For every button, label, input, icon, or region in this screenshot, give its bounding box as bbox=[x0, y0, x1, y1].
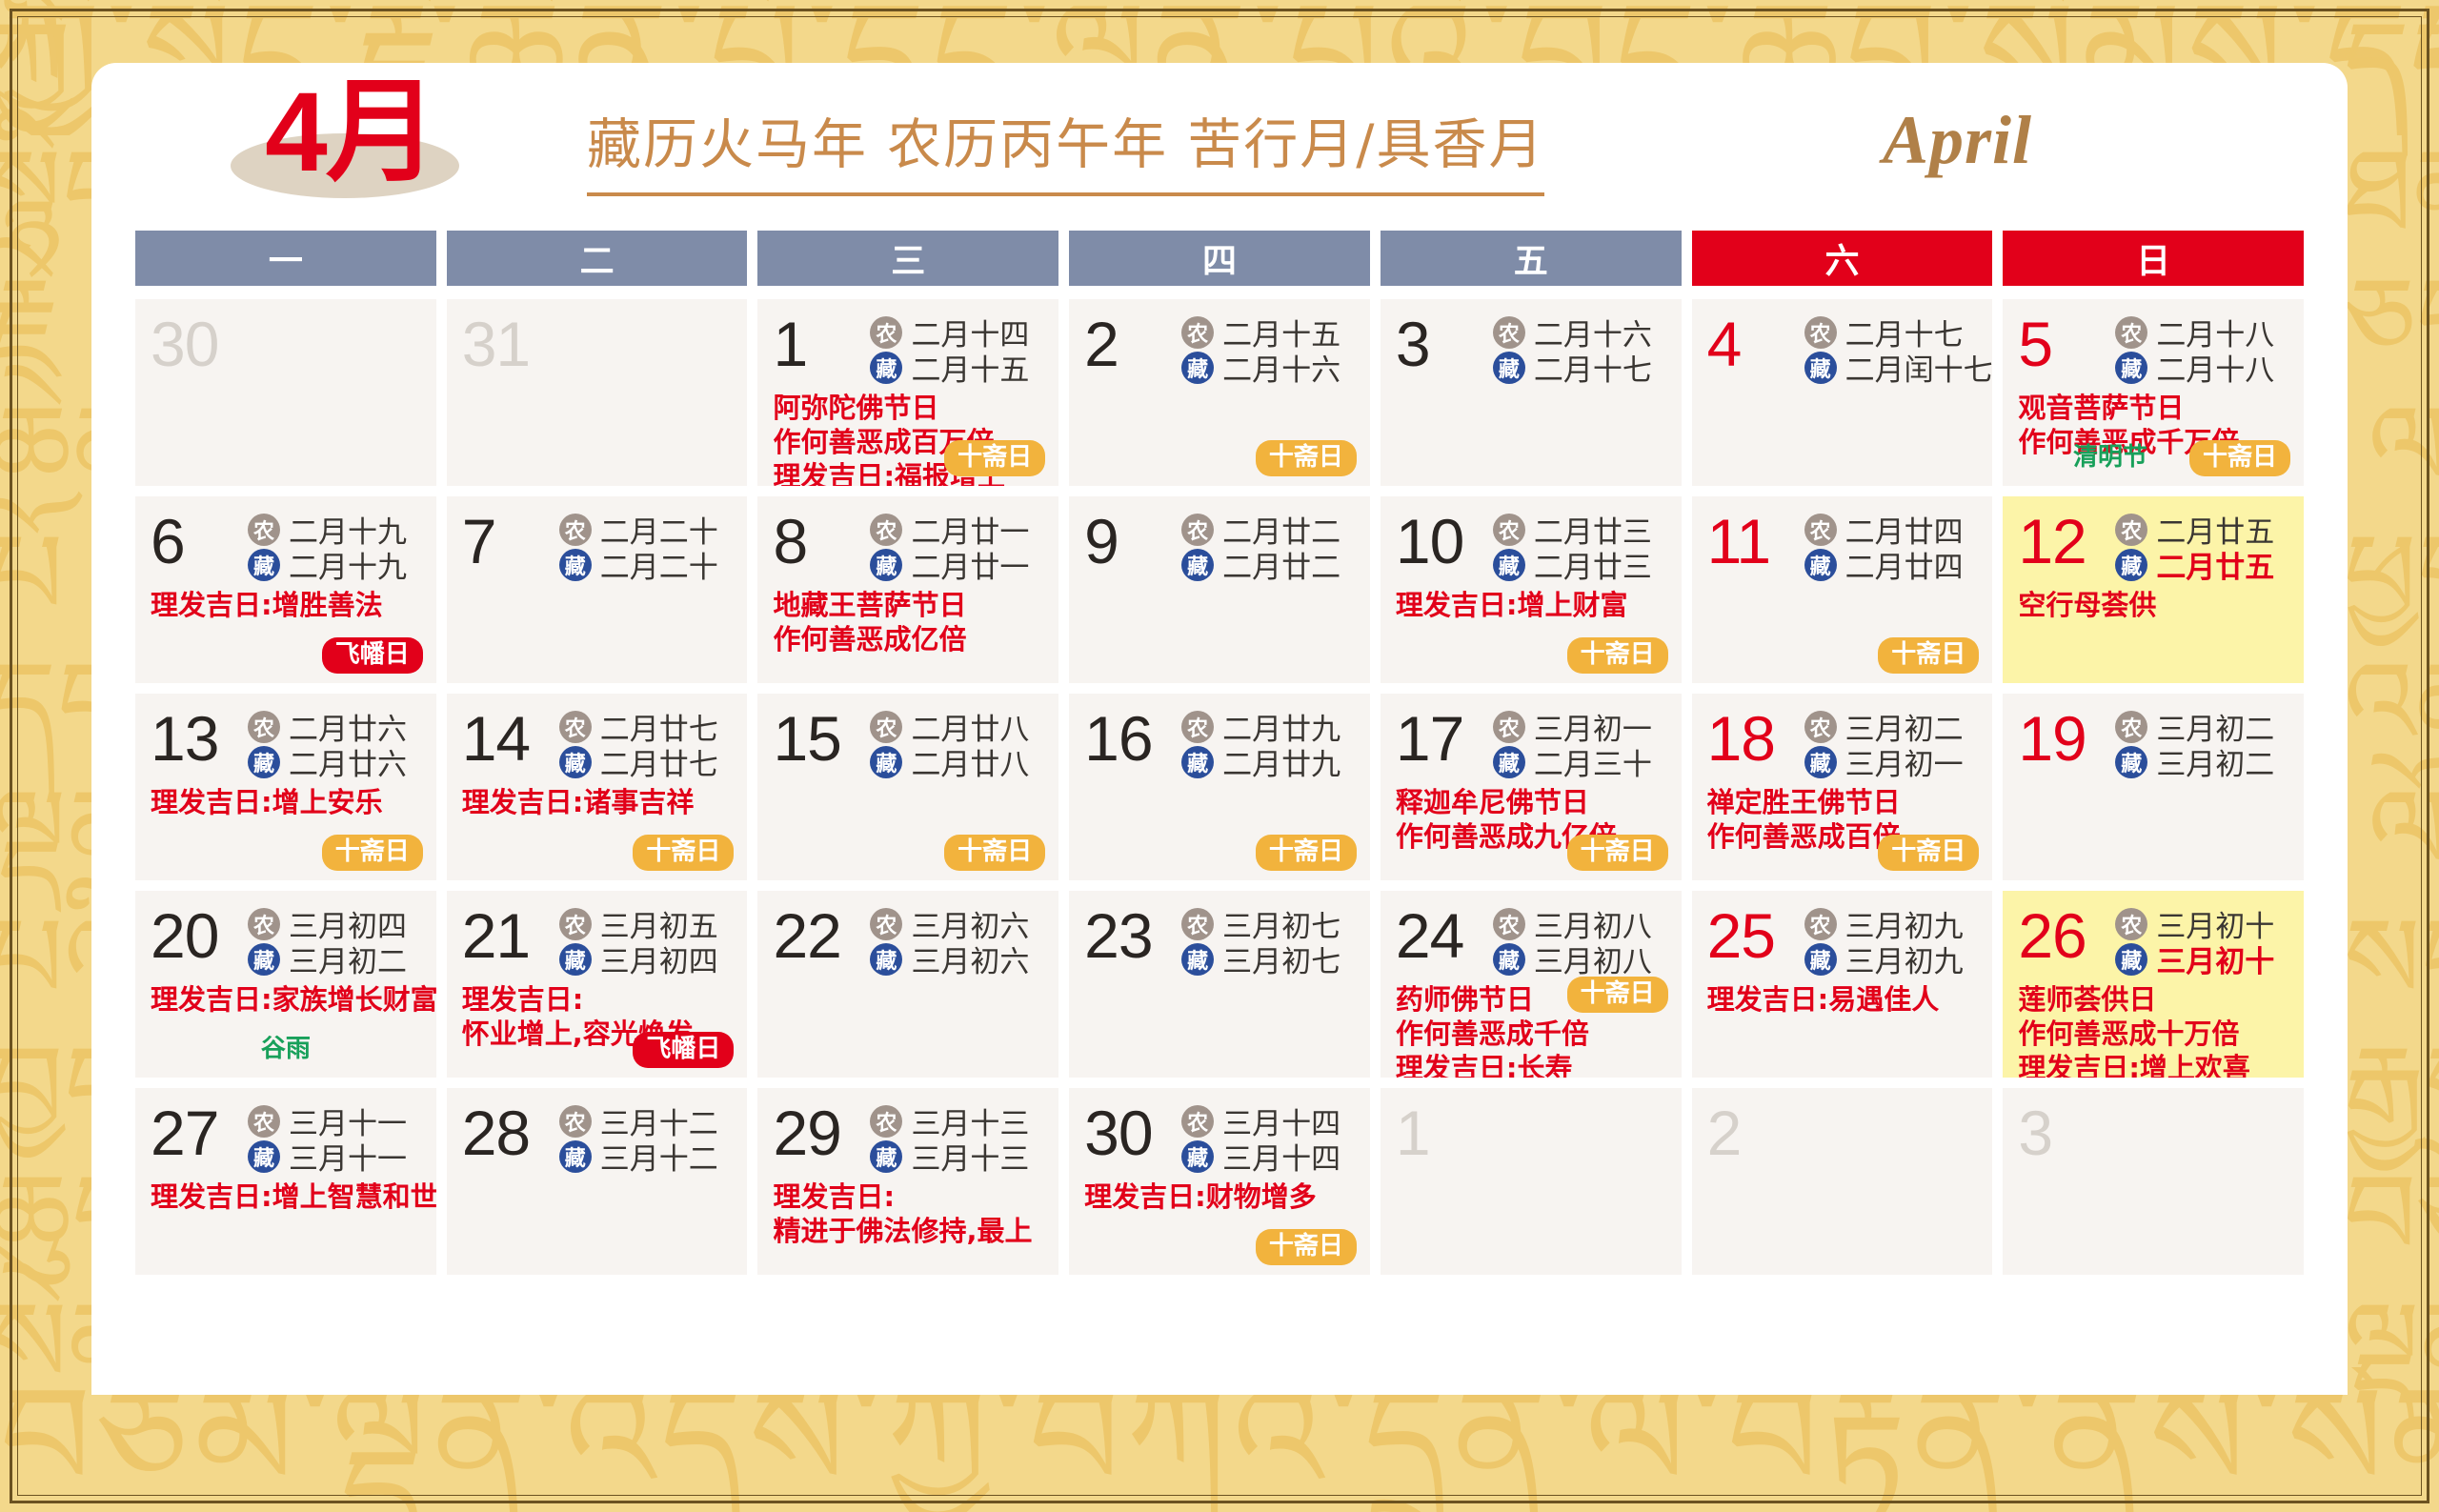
tibetan-lunar-text: 三月十四 bbox=[1222, 1135, 1340, 1178]
zang-label-icon: 藏 bbox=[870, 549, 902, 581]
day-number: 3 bbox=[1396, 309, 1487, 379]
lunar-dates: 农三月初二藏三月初二 bbox=[2115, 703, 2288, 779]
weekday-header-6: 六 bbox=[1692, 231, 1993, 286]
day-note-line: 理发吉日:长寿 bbox=[1396, 1051, 1666, 1078]
tibetan-lunar-line: 藏二月十六 bbox=[1181, 350, 1355, 385]
month-number: 4月 bbox=[217, 74, 484, 191]
tibetan-lunar-line: 藏三月十四 bbox=[1181, 1139, 1355, 1174]
day-number: 17 bbox=[1396, 703, 1487, 774]
zang-label-icon: 藏 bbox=[248, 549, 280, 581]
day-cell[interactable]: 12农二月廿五藏二月廿五空行母荟供 bbox=[2003, 496, 2304, 683]
tibetan-lunar-text: 三月初一 bbox=[1845, 740, 1964, 783]
day-notes: 莲师荟供日作何善恶成十万倍理发吉日:增上欢喜 bbox=[2018, 982, 2288, 1078]
day-number: 8 bbox=[773, 506, 864, 576]
day-cell-top: 29农三月十三藏三月十三 bbox=[773, 1098, 1043, 1178]
tibetan-lunar-line: 藏三月初九 bbox=[1804, 941, 1978, 977]
day-number: 23 bbox=[1084, 900, 1176, 971]
nong-label-icon: 农 bbox=[870, 514, 902, 546]
day-number: 16 bbox=[1084, 703, 1176, 774]
nong-label-icon: 农 bbox=[2115, 514, 2147, 546]
day-cell-top: 31 bbox=[462, 309, 733, 389]
day-cell[interactable]: 6农二月十九藏二月十九理发吉日:增胜善法飞幡日 bbox=[135, 496, 436, 683]
lunar-dates: 农二月廿八藏二月廿八 bbox=[870, 703, 1043, 779]
nong-label-icon: 农 bbox=[1804, 316, 1837, 349]
calendar-header: 4月 藏历火马年 农历丙午年 苦行月/具香月 April bbox=[91, 63, 2348, 219]
zang-label-icon: 藏 bbox=[2115, 746, 2147, 778]
day-cell-top: 20农三月初四藏三月初二 bbox=[151, 900, 421, 980]
day-cell-top: 3 bbox=[2018, 1098, 2288, 1178]
chinese-lunar-line: 农二月廿四 bbox=[1804, 512, 1978, 547]
day-number: 26 bbox=[2018, 900, 2109, 971]
tibetan-lunar-line: 藏二月廿八 bbox=[870, 744, 1043, 779]
nong-label-icon: 农 bbox=[559, 514, 592, 546]
shizhai-badge: 十斋日 bbox=[2189, 440, 2290, 476]
day-notes: 理发吉日:增胜善法 bbox=[151, 588, 421, 622]
chinese-lunar-line: 农三月十四 bbox=[1181, 1103, 1355, 1139]
day-cell[interactable]: 15农二月廿八藏二月廿八十斋日 bbox=[757, 694, 1058, 880]
tibetan-lunar-line: 藏二月十七 bbox=[1493, 350, 1666, 385]
tibetan-lunar-text: 二月十九 bbox=[289, 543, 407, 586]
calendar-week-row: 20农三月初四藏三月初二理发吉日:家族增长财富谷雨21农三月初五藏三月初四理发吉… bbox=[135, 891, 2304, 1078]
chinese-lunar-line: 农二月十九 bbox=[248, 512, 421, 547]
tibetan-lunar-text: 二月十六 bbox=[1222, 346, 1340, 389]
lunar-dates: 农三月初二藏三月初一 bbox=[1804, 703, 1978, 779]
weekday-header-row: 一二三四五六日 bbox=[135, 231, 2304, 286]
day-number: 2 bbox=[1707, 1098, 1799, 1168]
nong-label-icon: 农 bbox=[559, 711, 592, 743]
tibetan-lunar-text: 三月十三 bbox=[911, 1135, 1029, 1178]
day-number: 20 bbox=[151, 900, 242, 971]
day-number: 24 bbox=[1396, 900, 1487, 971]
lunar-dates: 农三月初九藏三月初九 bbox=[1804, 900, 1978, 977]
weekday-header-1: 一 bbox=[135, 231, 436, 286]
day-cell[interactable]: 13农二月廿六藏二月廿六理发吉日:增上安乐十斋日 bbox=[135, 694, 436, 880]
day-notes: 理发吉日:增上安乐 bbox=[151, 785, 421, 819]
day-note-line: 理发吉日:增上财富 bbox=[1396, 588, 1666, 622]
chinese-lunar-line: 农二月十八 bbox=[2115, 314, 2288, 350]
shizhai-badge: 十斋日 bbox=[633, 835, 734, 871]
tibetan-lunar-text: 三月初二 bbox=[289, 937, 407, 980]
tibetan-lunar-text: 三月十二 bbox=[600, 1135, 718, 1178]
zang-label-icon: 藏 bbox=[870, 1140, 902, 1173]
calendar-week-row: 6农二月十九藏二月十九理发吉日:增胜善法飞幡日7农二月二十藏二月二十8农二月廿一… bbox=[135, 496, 2304, 683]
nong-label-icon: 农 bbox=[559, 1105, 592, 1138]
zang-label-icon: 藏 bbox=[248, 943, 280, 976]
lunar-dates: 农二月十七藏二月闰十七 bbox=[1804, 309, 1993, 385]
tibetan-lunar-text: 二月廿六 bbox=[289, 740, 407, 783]
calendar-card: 4月 藏历火马年 农历丙午年 苦行月/具香月 April 一二三四五六日 303… bbox=[91, 63, 2348, 1395]
day-cell[interactable]: 10农二月廿三藏二月廿三理发吉日:增上财富十斋日 bbox=[1381, 496, 1682, 683]
day-cell[interactable]: 11农二月廿四藏二月廿四十斋日 bbox=[1692, 496, 1993, 683]
day-notes: 理发吉日:易遇佳人 bbox=[1707, 982, 1978, 1017]
chinese-lunar-line: 农三月十一 bbox=[248, 1103, 421, 1139]
nong-label-icon: 农 bbox=[248, 1105, 280, 1138]
day-cell-top: 25农三月初九藏三月初九 bbox=[1707, 900, 1978, 980]
lunar-dates: 农二月廿一藏二月廿一 bbox=[870, 506, 1043, 582]
nong-label-icon: 农 bbox=[248, 514, 280, 546]
day-cell[interactable]: 28农三月十二藏三月十二 bbox=[447, 1088, 748, 1275]
tibetan-lunar-line: 藏二月十九 bbox=[248, 547, 421, 582]
day-cell[interactable]: 26农三月初十藏三月初十莲师荟供日作何善恶成十万倍理发吉日:增上欢喜 bbox=[2003, 891, 2304, 1078]
shizhai-badge: 十斋日 bbox=[1878, 835, 1979, 871]
day-cell[interactable]: 20农三月初四藏三月初二理发吉日:家族增长财富谷雨 bbox=[135, 891, 436, 1078]
day-cell[interactable]: 9农二月廿二藏二月廿二 bbox=[1069, 496, 1370, 683]
day-note-line: 理发吉日:家族增长财富 bbox=[151, 982, 421, 1017]
nong-label-icon: 农 bbox=[559, 908, 592, 940]
lunar-dates: 农二月廿五藏二月廿五 bbox=[2115, 506, 2288, 582]
day-cell[interactable]: 25农三月初九藏三月初九理发吉日:易遇佳人 bbox=[1692, 891, 1993, 1078]
zang-label-icon: 藏 bbox=[870, 746, 902, 778]
nong-label-icon: 农 bbox=[870, 316, 902, 349]
nong-label-icon: 农 bbox=[1181, 1105, 1214, 1138]
tibetan-lunar-line: 藏三月初八 bbox=[1493, 941, 1666, 977]
zang-label-icon: 藏 bbox=[2115, 352, 2147, 384]
chinese-lunar-line: 农二月廿七 bbox=[559, 709, 733, 744]
tibetan-lunar-line: 藏二月十五 bbox=[870, 350, 1043, 385]
day-cell[interactable]: 29农三月十三藏三月十三理发吉日:精进于佛法修持,最上 bbox=[757, 1088, 1058, 1275]
zang-label-icon: 藏 bbox=[1181, 352, 1214, 384]
day-note-line: 释迦牟尼佛节日 bbox=[1396, 785, 1666, 819]
day-cell[interactable]: 21农三月初五藏三月初四理发吉日:怀业增上,容光焕发飞幡日 bbox=[447, 891, 748, 1078]
tibetan-lunar-line: 藏二月十八 bbox=[2115, 350, 2288, 385]
day-cell-top: 30 bbox=[151, 309, 421, 389]
day-cell-top: 30农三月十四藏三月十四 bbox=[1084, 1098, 1355, 1178]
day-number: 13 bbox=[151, 703, 242, 774]
day-note-line: 理发吉日:增胜善法 bbox=[151, 588, 421, 622]
nong-label-icon: 农 bbox=[870, 1105, 902, 1138]
lunar-dates: 农三月十三藏三月十三 bbox=[870, 1098, 1043, 1174]
day-cell-top: 2 bbox=[1707, 1098, 1978, 1178]
lunar-dates: 农二月廿七藏二月廿七 bbox=[559, 703, 733, 779]
nong-label-icon: 农 bbox=[248, 908, 280, 940]
day-number: 31 bbox=[462, 309, 554, 379]
zang-label-icon: 藏 bbox=[1493, 549, 1525, 581]
day-number: 28 bbox=[462, 1098, 554, 1168]
zang-label-icon: 藏 bbox=[559, 943, 592, 976]
chinese-lunar-line: 农二月二十 bbox=[559, 512, 733, 547]
day-note-line: 理发吉日:增上智慧和世聪 bbox=[151, 1179, 421, 1214]
day-cell[interactable]: 27农三月十一藏三月十一理发吉日:增上智慧和世聪 bbox=[135, 1088, 436, 1275]
zang-label-icon: 藏 bbox=[1493, 943, 1525, 976]
day-note-line: 理发吉日:增上安乐 bbox=[151, 785, 421, 819]
tibetan-lunar-text: 二月廿二 bbox=[1222, 543, 1340, 586]
weekday-header-5: 五 bbox=[1381, 231, 1682, 286]
day-notes: 理发吉日:增上财富 bbox=[1396, 588, 1666, 622]
lunar-dates: 农三月初六藏三月初六 bbox=[870, 900, 1043, 977]
calendar-week-row: 13农二月廿六藏二月廿六理发吉日:增上安乐十斋日14农二月廿七藏二月廿七理发吉日… bbox=[135, 694, 2304, 880]
tibetan-lunar-text: 二月廿三 bbox=[1534, 543, 1652, 586]
tibetan-lunar-text: 三月初四 bbox=[600, 937, 718, 980]
day-cell-top: 22农三月初六藏三月初六 bbox=[773, 900, 1043, 980]
day-cell-top: 2农二月十五藏二月十六 bbox=[1084, 309, 1355, 389]
day-number: 22 bbox=[773, 900, 864, 971]
day-note-line: 地藏王菩萨节日 bbox=[773, 588, 1043, 622]
day-cell-top: 11农二月廿四藏二月廿四 bbox=[1707, 506, 1978, 586]
shizhai-badge: 十斋日 bbox=[1256, 440, 1357, 476]
nong-label-icon: 农 bbox=[1493, 908, 1525, 940]
weekday-header-3: 三 bbox=[757, 231, 1058, 286]
shizhai-badge: 十斋日 bbox=[1567, 835, 1668, 871]
day-cell-top: 15农二月廿八藏二月廿八 bbox=[773, 703, 1043, 783]
tibetan-lunar-line: 藏三月十三 bbox=[870, 1139, 1043, 1174]
lunar-dates: 农三月初十藏三月初十 bbox=[2115, 900, 2288, 977]
chinese-lunar-line: 农二月廿三 bbox=[1493, 512, 1666, 547]
day-cell-adjacent-month[interactable]: 30 bbox=[135, 299, 436, 486]
lunar-dates: 农二月廿二藏二月廿二 bbox=[1181, 506, 1355, 582]
nong-label-icon: 农 bbox=[2115, 711, 2147, 743]
day-number: 2 bbox=[1084, 309, 1176, 379]
day-cell-top: 27农三月十一藏三月十一 bbox=[151, 1098, 421, 1178]
day-number: 1 bbox=[1396, 1098, 1487, 1168]
tibetan-lunar-line: 藏三月初二 bbox=[2115, 744, 2288, 779]
feifan-badge: 飞幡日 bbox=[633, 1032, 734, 1068]
tibetan-lunar-text: 三月初六 bbox=[911, 937, 1029, 980]
day-number: 9 bbox=[1084, 506, 1176, 576]
day-cell-top: 9农二月廿二藏二月廿二 bbox=[1084, 506, 1355, 586]
day-number: 25 bbox=[1707, 900, 1799, 971]
zang-label-icon: 藏 bbox=[559, 549, 592, 581]
zang-label-icon: 藏 bbox=[1804, 352, 1837, 384]
day-cell-top: 24农三月初八藏三月初八 bbox=[1396, 900, 1666, 980]
day-cell[interactable]: 7农二月二十藏二月二十 bbox=[447, 496, 748, 683]
zang-label-icon: 藏 bbox=[2115, 549, 2147, 581]
nong-label-icon: 农 bbox=[1181, 316, 1214, 349]
lunar-dates: 农二月十八藏二月十八 bbox=[2115, 309, 2288, 385]
zang-label-icon: 藏 bbox=[870, 352, 902, 384]
day-note-line: 禅定胜王佛节日 bbox=[1707, 785, 1978, 819]
lunar-dates: 农三月初七藏三月初七 bbox=[1181, 900, 1355, 977]
day-note-line: 观音菩萨节日 bbox=[2018, 391, 2288, 425]
tibetan-lunar-line: 藏二月廿四 bbox=[1804, 547, 1978, 582]
chinese-lunar-line: 农三月初二 bbox=[2115, 709, 2288, 744]
nong-label-icon: 农 bbox=[1493, 711, 1525, 743]
day-cell[interactable]: 23农三月初七藏三月初七 bbox=[1069, 891, 1370, 1078]
tibetan-lunar-line: 藏二月二十 bbox=[559, 547, 733, 582]
day-number: 30 bbox=[151, 309, 242, 379]
lunar-dates: 农三月十四藏三月十四 bbox=[1181, 1098, 1355, 1174]
lunar-dates: 农三月初五藏三月初四 bbox=[559, 900, 733, 977]
chinese-lunar-line: 农三月初七 bbox=[1181, 906, 1355, 941]
tibetan-lunar-line: 藏三月初七 bbox=[1181, 941, 1355, 977]
lunar-dates: 农三月初四藏三月初二 bbox=[248, 900, 421, 977]
day-cell-top: 12农二月廿五藏二月廿五 bbox=[2018, 506, 2288, 586]
zang-label-icon: 藏 bbox=[559, 1140, 592, 1173]
tibetan-lunar-line: 藏二月廿六 bbox=[248, 744, 421, 779]
lunar-dates: 农三月初一藏二月三十 bbox=[1493, 703, 1666, 779]
lunar-dates: 农二月十五藏二月十六 bbox=[1181, 309, 1355, 385]
chinese-lunar-line: 农二月十五 bbox=[1181, 314, 1355, 350]
day-note-line: 理发吉日:增上欢喜 bbox=[2018, 1051, 2288, 1078]
tibetan-lunar-text: 三月初九 bbox=[1845, 937, 1964, 980]
chinese-lunar-line: 农二月十四 bbox=[870, 314, 1043, 350]
day-cell[interactable]: 3农二月十六藏二月十七 bbox=[1381, 299, 1682, 486]
day-cell[interactable]: 5农二月十八藏二月十八观音菩萨节日作何善恶成千万倍十斋日清明节 bbox=[2003, 299, 2304, 486]
day-note-line: 作何善恶成千倍 bbox=[1396, 1017, 1666, 1051]
shizhai-badge: 十斋日 bbox=[1256, 835, 1357, 871]
zang-label-icon: 藏 bbox=[248, 1140, 280, 1173]
nong-label-icon: 农 bbox=[1493, 316, 1525, 349]
zang-label-icon: 藏 bbox=[1181, 549, 1214, 581]
day-cell-top: 28农三月十二藏三月十二 bbox=[462, 1098, 733, 1178]
tibetan-lunar-line: 藏三月初六 bbox=[870, 941, 1043, 977]
shizhai-badge: 十斋日 bbox=[1256, 1229, 1357, 1265]
day-number: 10 bbox=[1396, 506, 1487, 576]
day-note-line: 作何善恶成十万倍 bbox=[2018, 1017, 2288, 1051]
shizhai-badge: 十斋日 bbox=[1878, 637, 1979, 674]
day-notes: 理发吉日:精进于佛法修持,最上 bbox=[773, 1179, 1043, 1248]
day-cell-top: 1农二月十四藏二月十五 bbox=[773, 309, 1043, 389]
zang-label-icon: 藏 bbox=[1181, 1140, 1214, 1173]
nong-label-icon: 农 bbox=[1493, 514, 1525, 546]
day-number: 4 bbox=[1707, 309, 1799, 379]
tibetan-lunar-line: 藏二月廿七 bbox=[559, 744, 733, 779]
tibetan-lunar-line: 藏二月廿九 bbox=[1181, 744, 1355, 779]
tibetan-lunar-text: 二月廿五 bbox=[2156, 543, 2274, 586]
day-note-line: 阿弥陀佛节日 bbox=[773, 391, 1043, 425]
solar-term-label: 谷雨 bbox=[248, 1032, 324, 1068]
nong-label-icon: 农 bbox=[1804, 711, 1837, 743]
chinese-lunar-line: 农三月初一 bbox=[1493, 709, 1666, 744]
nong-label-icon: 农 bbox=[1804, 514, 1837, 546]
zang-label-icon: 藏 bbox=[1804, 943, 1837, 976]
chinese-lunar-line: 农二月廿八 bbox=[870, 709, 1043, 744]
tibetan-lunar-line: 藏三月十二 bbox=[559, 1139, 733, 1174]
day-cell[interactable]: 18农三月初二藏三月初一禅定胜王佛节日作何善恶成百倍十斋日 bbox=[1692, 694, 1993, 880]
zang-label-icon: 藏 bbox=[1181, 943, 1214, 976]
lunar-dates: 农二月十九藏二月十九 bbox=[248, 506, 421, 582]
zang-label-icon: 藏 bbox=[248, 746, 280, 778]
calendar-week-row: 27农三月十一藏三月十一理发吉日:增上智慧和世聪28农三月十二藏三月十二29农三… bbox=[135, 1088, 2304, 1275]
day-cell[interactable]: 2农二月十五藏二月十六十斋日 bbox=[1069, 299, 1370, 486]
tibetan-lunar-line: 藏二月廿三 bbox=[1493, 547, 1666, 582]
day-notes: 理发吉日:财物增多 bbox=[1084, 1179, 1355, 1214]
lunar-dates: 农二月廿六藏二月廿六 bbox=[248, 703, 421, 779]
weekday-header-7: 日 bbox=[2003, 231, 2304, 286]
day-notes: 理发吉日:诸事吉祥 bbox=[462, 785, 733, 819]
day-number: 18 bbox=[1707, 703, 1799, 774]
day-cell[interactable]: 17农三月初一藏二月三十释迦牟尼佛节日作何善恶成九亿倍十斋日 bbox=[1381, 694, 1682, 880]
lunar-dates: 农三月十一藏三月十一 bbox=[248, 1098, 421, 1174]
calendar-week-row: 30311农二月十四藏二月十五阿弥陀佛节日作何善恶成百万倍理发吉日:福报增上十斋… bbox=[135, 299, 2304, 486]
day-cell[interactable]: 16农二月廿九藏二月廿九十斋日 bbox=[1069, 694, 1370, 880]
lunar-dates: 农三月十二藏三月十二 bbox=[559, 1098, 733, 1174]
tibetan-lunar-text: 二月廿一 bbox=[911, 543, 1029, 586]
day-number: 12 bbox=[2018, 506, 2109, 576]
shizhai-badge: 十斋日 bbox=[1567, 977, 1668, 1013]
day-note-line: 理发吉日:财物增多 bbox=[1084, 1179, 1355, 1214]
month-name-english: April bbox=[1883, 101, 2032, 180]
day-note-line: 作何善恶成亿倍 bbox=[773, 622, 1043, 656]
tibetan-lunar-text: 二月廿九 bbox=[1222, 740, 1340, 783]
tibetan-lunar-line: 藏二月三十 bbox=[1493, 744, 1666, 779]
decor-script-right: དཔའཐམསཅདལཕྱགའཚལལོསངསརྒྱསབཅོམལྡན bbox=[2344, 0, 2439, 1512]
tibetan-lunar-line: 藏二月廿一 bbox=[870, 547, 1043, 582]
tibetan-lunar-text: 二月廿八 bbox=[911, 740, 1029, 783]
tibetan-lunar-text: 三月十一 bbox=[289, 1135, 407, 1178]
tibetan-lunar-text: 三月初八 bbox=[1534, 937, 1652, 980]
day-cell[interactable]: 8农二月廿一藏二月廿一地藏王菩萨节日作何善恶成亿倍 bbox=[757, 496, 1058, 683]
tibetan-lunar-line: 藏三月十一 bbox=[248, 1139, 421, 1174]
day-number: 1 bbox=[773, 309, 864, 379]
tibetan-lunar-line: 藏二月闰十七 bbox=[1804, 350, 1993, 385]
day-cell-adjacent-month[interactable]: 3 bbox=[2003, 1088, 2304, 1275]
day-cell[interactable]: 19农三月初二藏三月初二 bbox=[2003, 694, 2304, 880]
day-number: 15 bbox=[773, 703, 864, 774]
tibetan-lunar-text: 二月三十 bbox=[1534, 740, 1652, 783]
day-cell-adjacent-month[interactable]: 31 bbox=[447, 299, 748, 486]
day-number: 3 bbox=[2018, 1098, 2109, 1168]
day-cell-top: 4农二月十七藏二月闰十七 bbox=[1707, 309, 1978, 389]
chinese-lunar-line: 农二月十七 bbox=[1804, 314, 1993, 350]
zang-label-icon: 藏 bbox=[1181, 746, 1214, 778]
chinese-lunar-line: 农三月初六 bbox=[870, 906, 1043, 941]
day-note-line: 精进于佛法修持,最上 bbox=[773, 1214, 1043, 1248]
zang-label-icon: 藏 bbox=[559, 746, 592, 778]
shizhai-badge: 十斋日 bbox=[322, 835, 423, 871]
chinese-lunar-line: 农二月十六 bbox=[1493, 314, 1666, 350]
tibetan-lunar-text: 二月廿七 bbox=[600, 740, 718, 783]
tibetan-lunar-text: 二月十五 bbox=[911, 346, 1029, 389]
calendar-grid: 一二三四五六日 30311农二月十四藏二月十五阿弥陀佛节日作何善恶成百万倍理发吉… bbox=[135, 231, 2304, 1275]
nong-label-icon: 农 bbox=[1181, 711, 1214, 743]
day-cell-top: 23农三月初七藏三月初七 bbox=[1084, 900, 1355, 980]
day-notes: 理发吉日:家族增长财富 bbox=[151, 982, 421, 1017]
chinese-lunar-line: 农三月初八 bbox=[1493, 906, 1666, 941]
chinese-lunar-line: 农三月初五 bbox=[559, 906, 733, 941]
chinese-lunar-line: 农三月初四 bbox=[248, 906, 421, 941]
lunar-dates: 农二月十四藏二月十五 bbox=[870, 309, 1043, 385]
day-number: 6 bbox=[151, 506, 242, 576]
tibetan-lunar-line: 藏二月廿二 bbox=[1181, 547, 1355, 582]
day-cell-adjacent-month[interactable]: 2 bbox=[1692, 1088, 1993, 1275]
zang-label-icon: 藏 bbox=[1804, 549, 1837, 581]
zang-label-icon: 藏 bbox=[870, 943, 902, 976]
chinese-lunar-line: 农三月十二 bbox=[559, 1103, 733, 1139]
zang-label-icon: 藏 bbox=[1493, 352, 1525, 384]
day-note-line: 理发吉日:诸事吉祥 bbox=[462, 785, 733, 819]
day-cell[interactable]: 14农二月廿七藏二月廿七理发吉日:诸事吉祥十斋日 bbox=[447, 694, 748, 880]
day-cell[interactable]: 30农三月十四藏三月十四理发吉日:财物增多十斋日 bbox=[1069, 1088, 1370, 1275]
lunar-dates: 农二月十六藏二月十七 bbox=[1493, 309, 1666, 385]
day-notes: 理发吉日:增上智慧和世聪 bbox=[151, 1179, 421, 1214]
nong-label-icon: 农 bbox=[2115, 908, 2147, 940]
day-cell-top: 18农三月初二藏三月初一 bbox=[1707, 703, 1978, 783]
day-number: 7 bbox=[462, 506, 554, 576]
day-note-line: 理发吉日: bbox=[462, 982, 733, 1017]
day-cell[interactable]: 1农二月十四藏二月十五阿弥陀佛节日作何善恶成百万倍理发吉日:福报增上十斋日 bbox=[757, 299, 1058, 486]
day-number: 11 bbox=[1707, 506, 1799, 576]
day-number: 5 bbox=[2018, 309, 2109, 379]
nong-label-icon: 农 bbox=[1181, 514, 1214, 546]
day-cell[interactable]: 24农三月初八藏三月初八药师佛节日作何善恶成千倍理发吉日:长寿十斋日 bbox=[1381, 891, 1682, 1078]
day-cell-top: 7农二月二十藏二月二十 bbox=[462, 506, 733, 586]
day-cell[interactable]: 22农三月初六藏三月初六 bbox=[757, 891, 1058, 1078]
lunar-dates: 农二月廿九藏二月廿九 bbox=[1181, 703, 1355, 779]
day-cell[interactable]: 4农二月十七藏二月闰十七 bbox=[1692, 299, 1993, 486]
day-cell-adjacent-month[interactable]: 1 bbox=[1381, 1088, 1682, 1275]
nong-label-icon: 农 bbox=[2115, 316, 2147, 349]
nong-label-icon: 农 bbox=[1804, 908, 1837, 940]
calendar-page: ཀྱི་སྙིང་རྗེ་ཆེན་པོ་དང་ལྡན་པའི་བྱང་ཆུབ་ས… bbox=[0, 0, 2439, 1512]
day-cell-top: 3农二月十六藏二月十七 bbox=[1396, 309, 1666, 389]
day-cell-top: 1 bbox=[1396, 1098, 1666, 1178]
day-cell-top: 19农三月初二藏三月初二 bbox=[2018, 703, 2288, 783]
day-number: 27 bbox=[151, 1098, 242, 1168]
day-notes: 空行母荟供 bbox=[2018, 588, 2288, 622]
lunar-dates: 农二月廿四藏二月廿四 bbox=[1804, 506, 1978, 582]
day-cell-top: 14农二月廿七藏二月廿七 bbox=[462, 703, 733, 783]
tibetan-lunar-line: 藏三月初一 bbox=[1804, 744, 1978, 779]
